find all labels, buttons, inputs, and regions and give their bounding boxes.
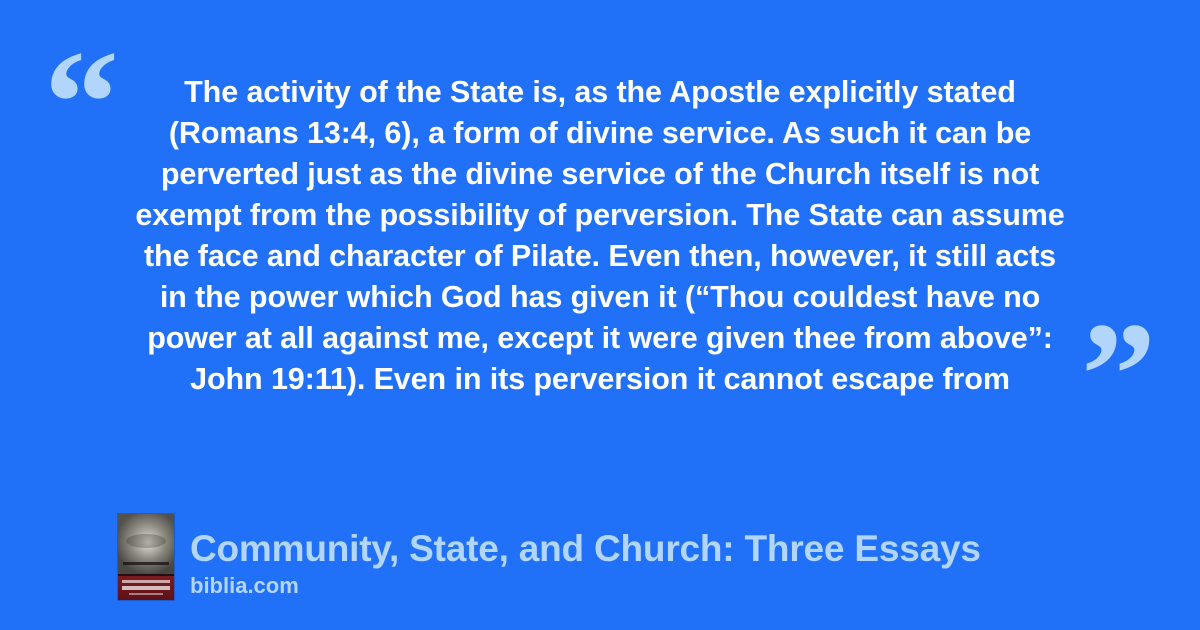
cover-band-line	[122, 580, 170, 583]
cover-divider	[123, 562, 169, 565]
cover-band-line	[122, 586, 170, 590]
quote-card: “ The activity of the State is, as the A…	[0, 0, 1200, 630]
attribution-footer: Community, State, and Church: Three Essa…	[118, 514, 981, 600]
footer-text-block: Community, State, and Church: Three Essa…	[190, 527, 981, 600]
book-cover-thumbnail	[118, 514, 174, 600]
quote-text: The activity of the State is, as the Apo…	[100, 72, 1100, 400]
cover-title-band	[118, 574, 174, 600]
site-name: biblia.com	[190, 572, 981, 600]
cover-band-line	[129, 593, 163, 595]
author-portrait-image	[118, 514, 174, 576]
book-title: Community, State, and Church: Three Essa…	[190, 527, 981, 571]
